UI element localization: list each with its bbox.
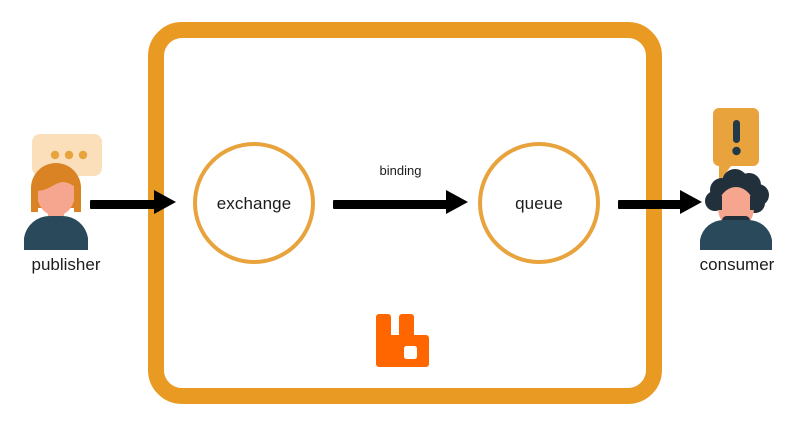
arrow-shaft <box>618 200 682 209</box>
publisher-label: publisher <box>2 255 130 275</box>
arrow-shaft <box>333 200 448 209</box>
diagram-canvas: publisher <box>0 0 799 423</box>
consumer-avatar <box>695 108 781 250</box>
binding-label: binding <box>333 163 468 178</box>
arrow-head <box>446 190 468 214</box>
exchange-node-label: exchange <box>217 195 292 212</box>
consumer-label: consumer <box>678 255 796 275</box>
exchange-node[interactable]: exchange <box>193 142 315 264</box>
queue-node[interactable]: queue <box>478 142 600 264</box>
rabbitmq-logo-icon <box>373 313 429 368</box>
arrow-shaft <box>90 200 156 209</box>
publisher-avatar <box>18 132 116 250</box>
arrow-exchange-to-queue <box>333 196 468 209</box>
arrow-queue-to-consumer <box>618 196 702 209</box>
arrow-head <box>154 190 176 214</box>
arrow-head <box>680 190 702 214</box>
queue-node-label: queue <box>515 195 563 212</box>
arrow-publisher-to-exchange <box>90 196 176 209</box>
